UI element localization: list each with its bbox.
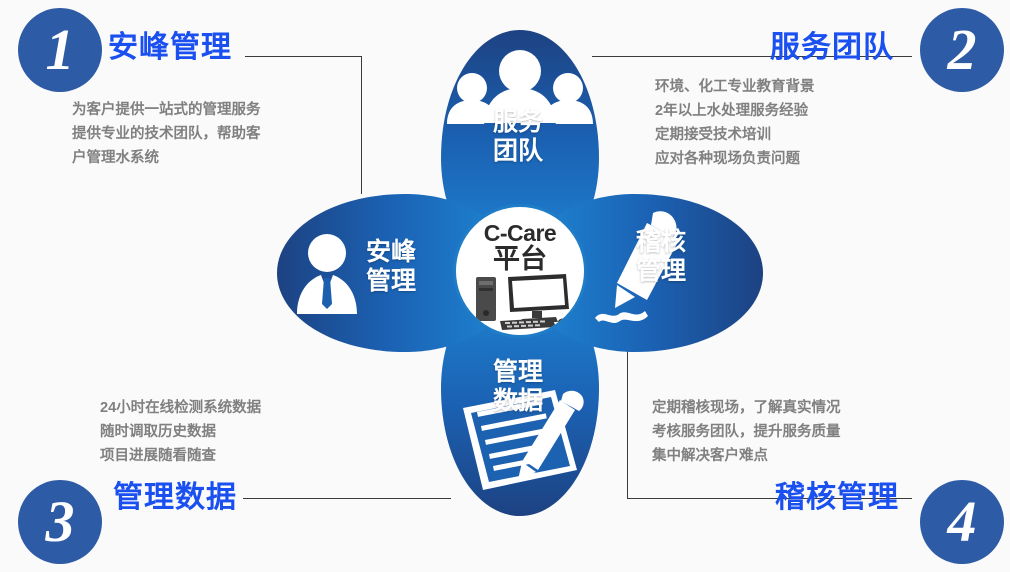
center-hub: C-Care 平台 [453, 204, 587, 338]
number-badge-1: 1 [18, 8, 102, 92]
body-line: 应对各种现场负责问题 [655, 147, 815, 171]
section-body-3: 24小时在线检测系统数据随时调取历史数据项目进展随看随查 [100, 396, 261, 468]
section-title-4: 稽核管理 [775, 472, 899, 516]
body-line: 2年以上水处理服务经验 [655, 99, 815, 123]
petal-label-left: 安峰 管理 [345, 238, 437, 296]
body-line: 提供专业的技术团队，帮助客 [72, 122, 261, 146]
body-line: 项目进展随看随查 [100, 444, 261, 468]
section-body-4: 定期稽核现场，了解真实情况考核服务团队，提升服务质量集中解决客户难点 [652, 396, 841, 468]
body-line: 24小时在线检测系统数据 [100, 396, 261, 420]
petal-label-top: 服务 团队 [468, 108, 568, 166]
petal-label-right: 稽核 管理 [615, 228, 707, 286]
infographic-canvas: C-Care 平台 [0, 0, 1010, 572]
body-line: 集中解决客户难点 [652, 444, 841, 468]
petal-label-bottom: 管理 数据 [468, 358, 568, 416]
section-body-2: 环境、化工专业教育背景2年以上水处理服务经验定期接受技术培训应对各种现场负责问题 [655, 75, 815, 171]
number-badge-2: 2 [920, 8, 1004, 92]
desktop-computer-icon [474, 273, 572, 331]
section-title-2: 服务团队 [770, 22, 894, 66]
body-line: 考核服务团队，提升服务质量 [652, 420, 841, 444]
body-line: 环境、化工专业教育背景 [655, 75, 815, 99]
body-line: 定期接受技术培训 [655, 123, 815, 147]
section-title-3: 管理数据 [113, 472, 237, 516]
number-badge-3: 3 [18, 480, 102, 564]
hub-subtitle: 平台 [456, 245, 584, 273]
section-body-1: 为客户提供一站式的管理服务提供专业的技术团队，帮助客户管理水系统 [72, 98, 261, 170]
body-line: 为客户提供一站式的管理服务 [72, 98, 261, 122]
body-line: 户管理水系统 [72, 146, 261, 170]
body-line: 定期稽核现场，了解真实情况 [652, 396, 841, 420]
number-badge-4: 4 [920, 480, 1004, 564]
body-line: 随时调取历史数据 [100, 420, 261, 444]
hub-title: C-Care [456, 221, 584, 246]
section-title-1: 安峰管理 [108, 22, 232, 66]
